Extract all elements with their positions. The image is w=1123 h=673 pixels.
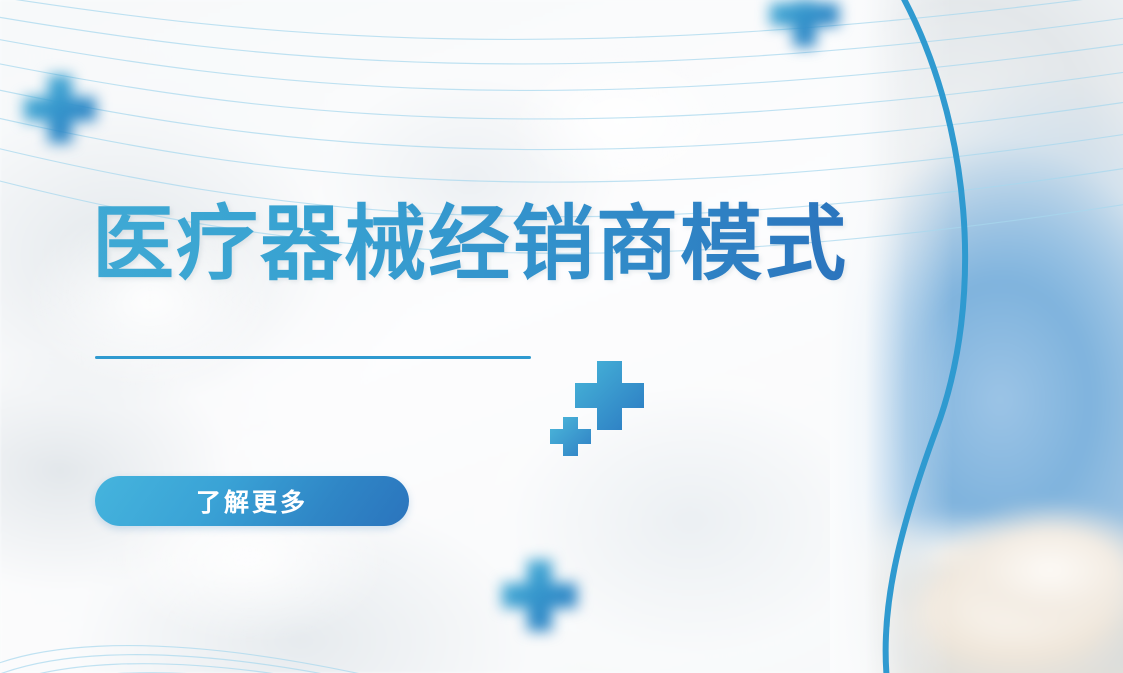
background-photo-right	[830, 0, 1123, 673]
photo-fade-overlay	[830, 0, 1123, 673]
learn-more-button[interactable]: 了解更多	[95, 476, 409, 526]
banner-root: 医疗器械经销商模式 医疗器械经销商模式 了解更多	[0, 0, 1123, 673]
title-divider	[95, 356, 531, 359]
page-title: 医疗器械经销商模式	[92, 200, 848, 290]
